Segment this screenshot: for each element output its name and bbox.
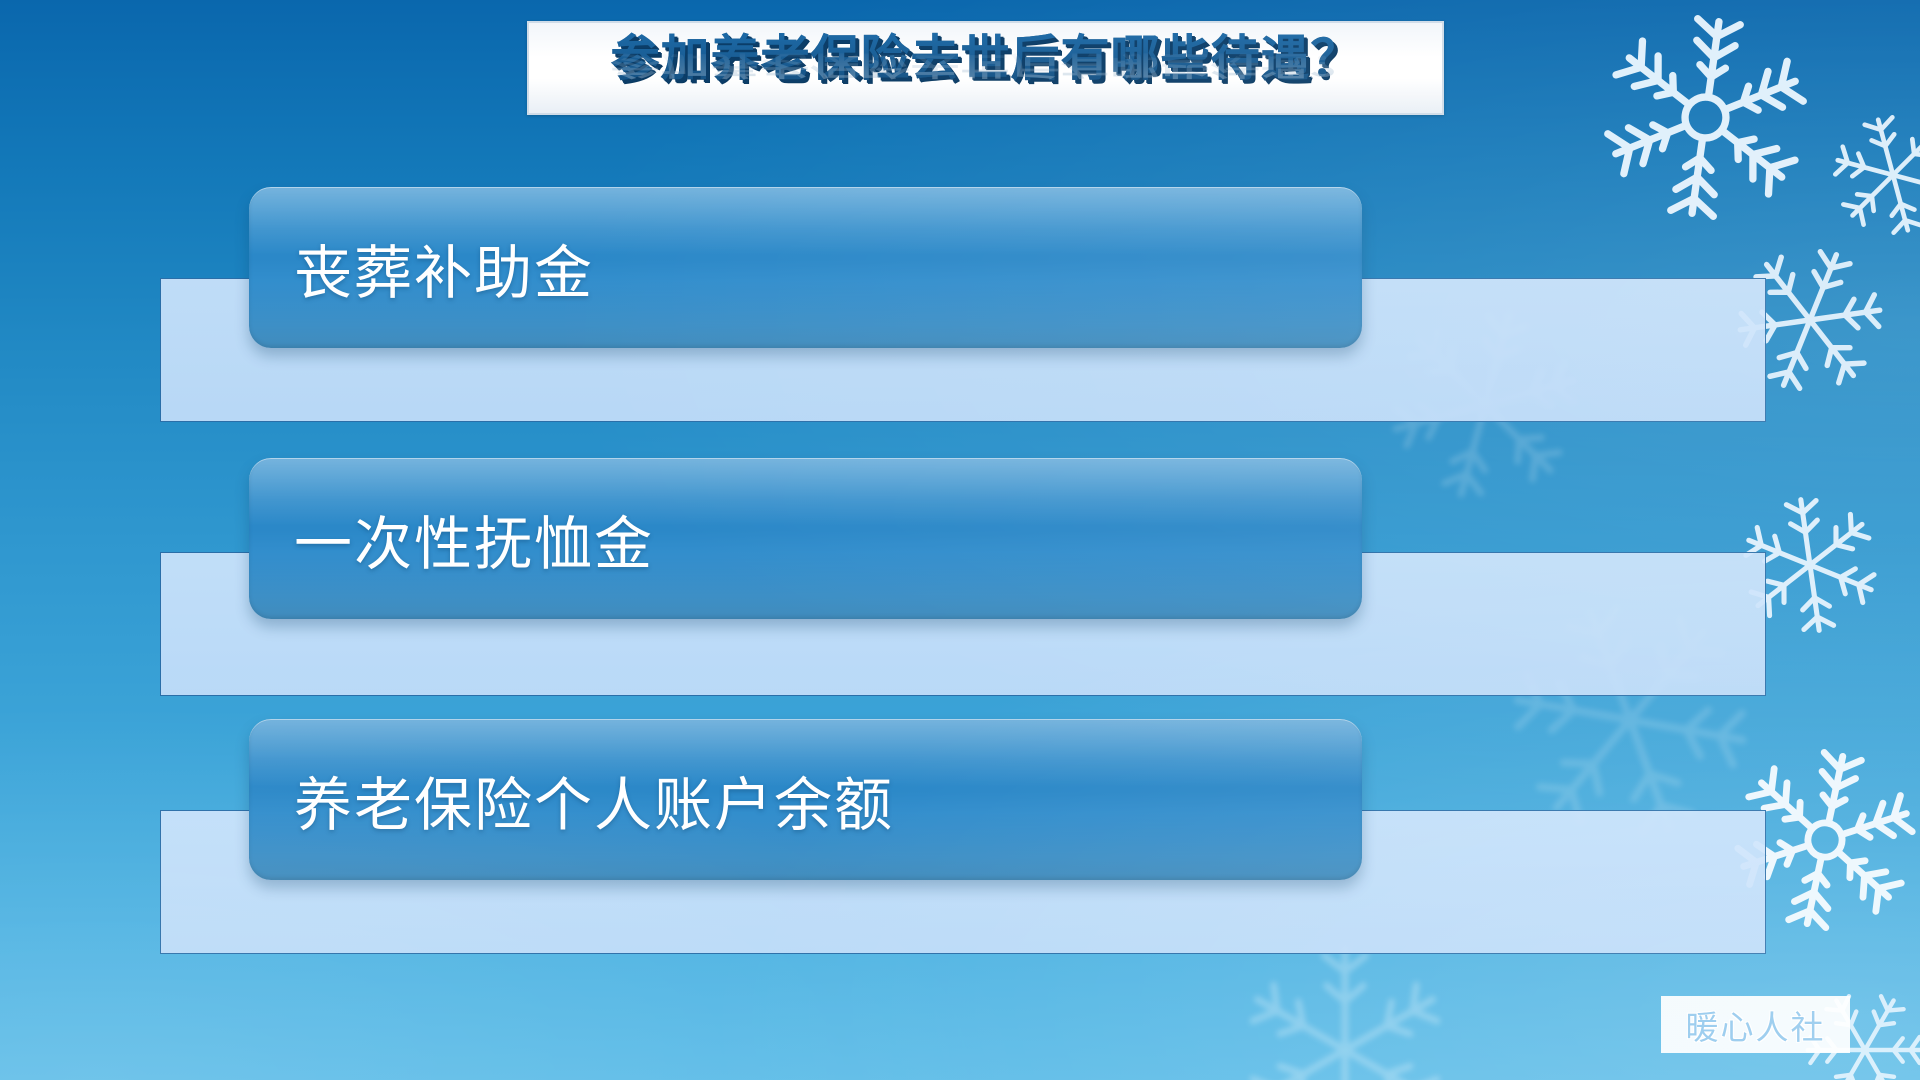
snowflake-top-right-small-icon xyxy=(1813,95,1920,254)
watermark-badge: 暖心人社 xyxy=(1661,996,1850,1053)
benefit-item-1[interactable]: 丧葬补助金 xyxy=(249,187,1362,348)
benefit-item-2[interactable]: 一次性抚恤金 xyxy=(249,458,1362,619)
slide-title-reflection: 参加养老保险去世后有哪些待遇？ xyxy=(529,44,1442,85)
benefit-item-2-label: 一次性抚恤金 xyxy=(249,497,654,581)
benefit-item-1-label: 丧葬补助金 xyxy=(249,226,594,310)
snowflake-bottom-center-icon xyxy=(1230,935,1460,1080)
watermark-label: 暖心人社 xyxy=(1686,1001,1826,1049)
benefit-item-3-label: 养老保险个人账户余额 xyxy=(249,758,894,842)
slide-title-box: 参加养老保险去世后有哪些待遇？ 参加养老保险去世后有哪些待遇？ 参加养老保险去世… xyxy=(527,21,1444,115)
benefit-item-3[interactable]: 养老保险个人账户余额 xyxy=(249,719,1362,880)
slide-canvas: 参加养老保险去世后有哪些待遇？ 参加养老保险去世后有哪些待遇？ 参加养老保险去世… xyxy=(0,0,1920,1080)
snowflake-top-right-large-icon xyxy=(1584,0,1827,239)
